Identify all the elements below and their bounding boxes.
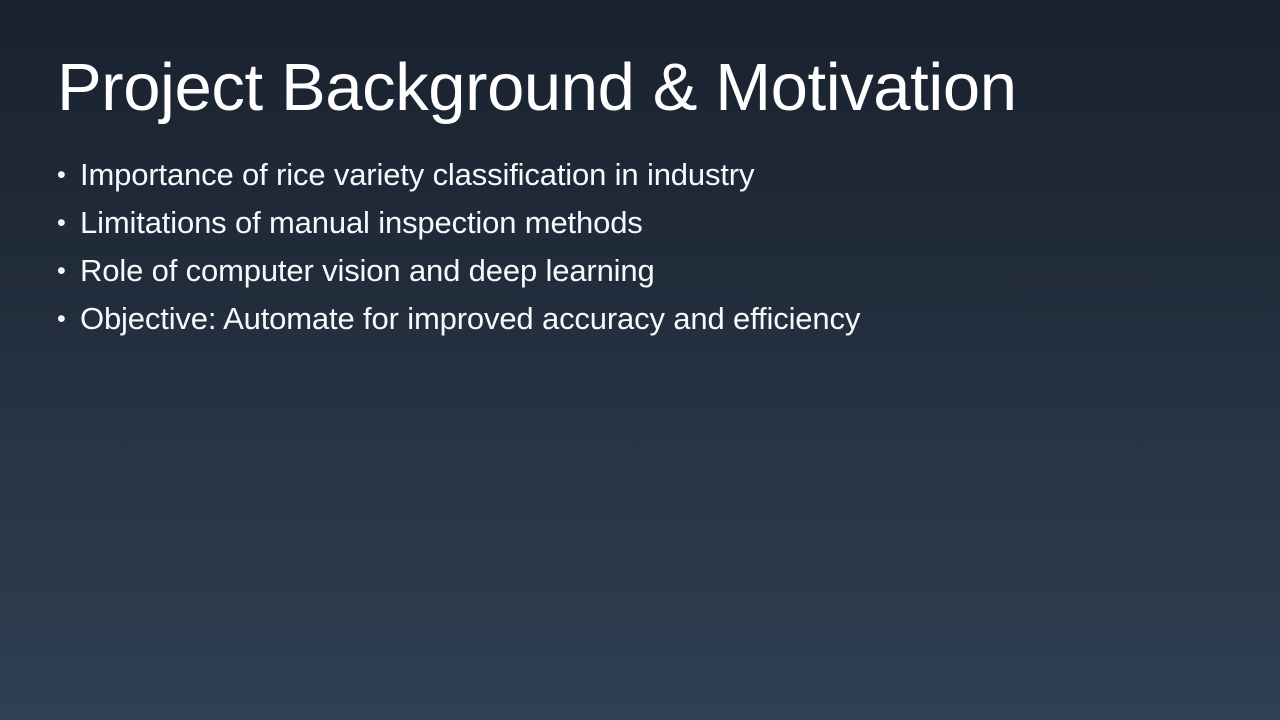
bullet-point-icon: • [57, 298, 80, 340]
list-item-label: Role of computer vision and deep learnin… [80, 250, 655, 292]
list-item-label: Objective: Automate for improved accurac… [80, 298, 860, 340]
list-item-label: Importance of rice variety classificatio… [80, 154, 754, 196]
list-item: • Importance of rice variety classificat… [57, 154, 1217, 202]
list-item: • Limitations of manual inspection metho… [57, 202, 1217, 250]
bullet-point-icon: • [57, 154, 80, 196]
bullet-point-icon: • [57, 250, 80, 292]
bullet-point-icon: • [57, 202, 80, 244]
list-item-label: Limitations of manual inspection methods [80, 202, 643, 244]
page-title: Project Background & Motivation [57, 49, 1207, 127]
list-item: • Role of computer vision and deep learn… [57, 250, 1217, 298]
presentation-slide: Project Background & Motivation • Import… [0, 0, 1280, 720]
list-item: • Objective: Automate for improved accur… [57, 298, 1217, 346]
bullet-list: • Importance of rice variety classificat… [57, 154, 1217, 346]
